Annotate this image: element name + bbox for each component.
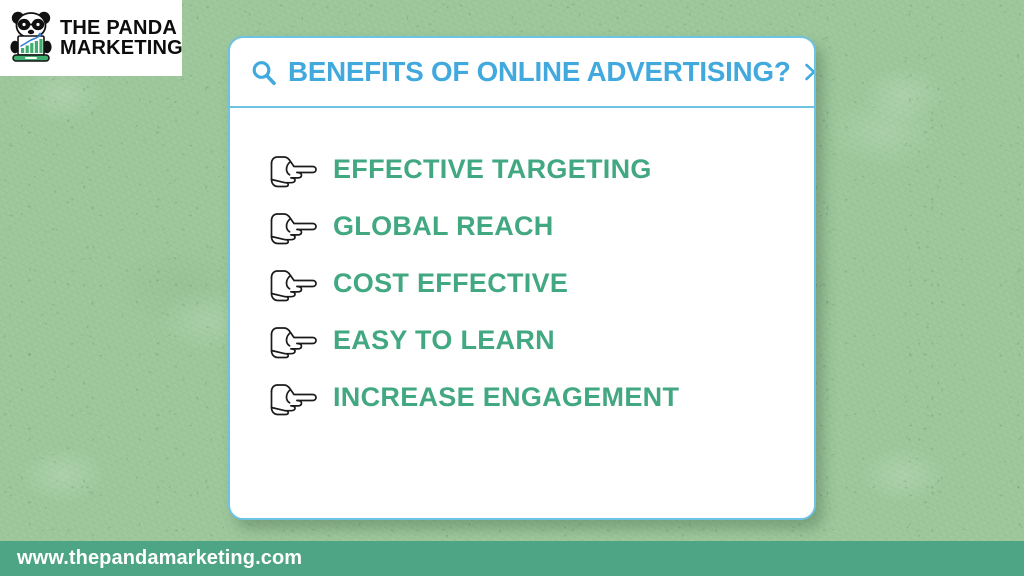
brand-name-line-2: MARKETING xyxy=(60,38,183,58)
pointing-hand-icon xyxy=(267,152,319,188)
pointing-hand-icon xyxy=(267,380,319,416)
brand-name-line-1: THE PANDA xyxy=(60,18,183,38)
search-icon xyxy=(250,59,278,87)
benefit-list: EFFECTIVE TARGETING G xyxy=(230,108,814,426)
card-header: BENEFITS OF ONLINE ADVERTISING? xyxy=(230,38,814,106)
brand-wordmark: THE PANDA MARKETING xyxy=(60,18,183,59)
benefit-label: GLOBAL REACH xyxy=(333,211,554,242)
website-url[interactable]: www.thepandamarketing.com xyxy=(17,547,302,570)
footer-bar: www.thepandamarketing.com xyxy=(0,541,1024,576)
slide-canvas: THE PANDA MARKETING BENEFITS OF ONLINE A… xyxy=(0,0,1024,576)
benefit-label: COST EFFECTIVE xyxy=(333,268,568,299)
benefit-label: EASY TO LEARN xyxy=(333,325,555,356)
pointing-hand-icon xyxy=(267,209,319,245)
pointing-hand-icon xyxy=(267,266,319,302)
page-title: BENEFITS OF ONLINE ADVERTISING? xyxy=(288,56,791,88)
benefit-label: INCREASE ENGAGEMENT xyxy=(333,382,679,413)
benefit-label: EFFECTIVE TARGETING xyxy=(333,154,652,185)
list-item[interactable]: INCREASE ENGAGEMENT xyxy=(230,369,814,426)
list-item[interactable]: GLOBAL REACH xyxy=(230,198,814,255)
panda-chart-logo-icon xyxy=(8,9,54,67)
brand-logo: THE PANDA MARKETING xyxy=(0,0,182,76)
list-item[interactable]: EFFECTIVE TARGETING xyxy=(230,141,814,198)
list-item[interactable]: EASY TO LEARN xyxy=(230,312,814,369)
list-item[interactable]: COST EFFECTIVE xyxy=(230,255,814,312)
search-result-card: BENEFITS OF ONLINE ADVERTISING? xyxy=(228,36,816,520)
close-icon[interactable] xyxy=(802,60,816,84)
pointing-hand-icon xyxy=(267,323,319,359)
